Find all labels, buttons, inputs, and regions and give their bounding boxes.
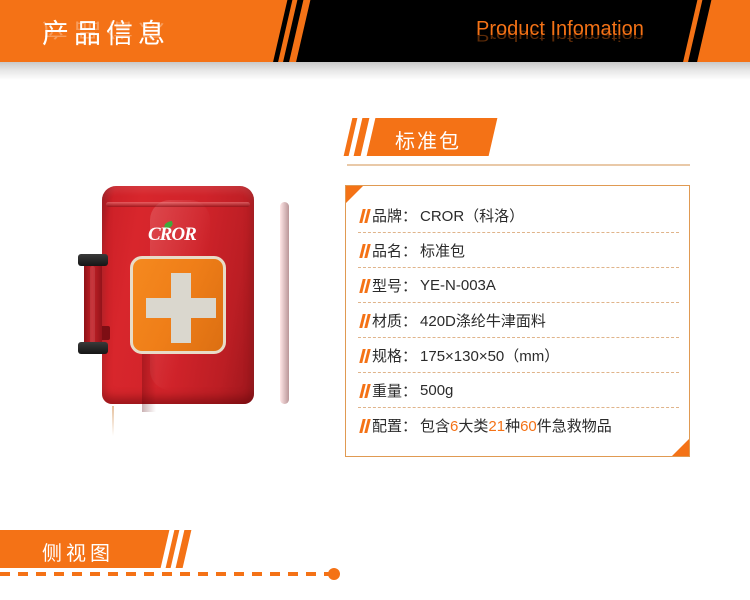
value-text: 大类 bbox=[458, 418, 488, 435]
footer-end-dot bbox=[328, 568, 340, 580]
bag-front-panel bbox=[130, 256, 226, 354]
section-badge: 标准包 bbox=[345, 118, 515, 156]
spec-row-label: 材质： bbox=[372, 310, 417, 331]
product-photo-first-aid-kit: CROR bbox=[62, 178, 298, 420]
spec-row: 品牌：CROR（科洛） bbox=[358, 198, 679, 233]
double-slash-bullet-icon bbox=[361, 314, 373, 328]
spec-row-label: 型号： bbox=[372, 275, 417, 296]
header-title-en-reflection: Product Infomation bbox=[476, 26, 644, 44]
double-slash-bullet-icon bbox=[361, 384, 373, 398]
spec-row-value: 500g bbox=[420, 382, 453, 399]
bag-right-seam bbox=[280, 202, 289, 404]
page-header-banner: 产品信息 产品信息 Product Infomation Product Inf… bbox=[0, 0, 750, 62]
medical-cross-icon-bar bbox=[146, 298, 216, 318]
image-artifact-line bbox=[112, 406, 114, 436]
double-slash-bullet-icon bbox=[361, 209, 373, 223]
double-slash-bullet-icon bbox=[361, 244, 373, 258]
page-footer-banner: 侧视图 bbox=[0, 530, 750, 576]
value-text: 包含 bbox=[420, 418, 450, 435]
spec-row-label: 品牌： bbox=[372, 205, 417, 226]
bag-top-zipper bbox=[106, 202, 250, 207]
specification-box: 品牌：CROR（科洛）品名：标准包型号：YE-N-003A材质：420D涤纶牛津… bbox=[345, 185, 690, 457]
brand-logo-text: CROR bbox=[148, 224, 196, 246]
spec-row-value: 标准包 bbox=[420, 240, 465, 261]
spec-row-label: 品名： bbox=[372, 240, 417, 261]
strap-loop-bottom bbox=[78, 342, 108, 354]
brand-logo: CROR bbox=[148, 222, 210, 246]
header-title-cn-reflection: 产品信息 bbox=[42, 18, 170, 45]
spec-row: 材质：420D涤纶牛津面料 bbox=[358, 303, 679, 338]
footer-label: 侧视图 bbox=[42, 537, 114, 566]
spec-row: 重量：500g bbox=[358, 373, 679, 408]
spec-row-label: 配置： bbox=[372, 415, 417, 436]
strap-highlight bbox=[90, 266, 95, 344]
value-text: 件急救物品 bbox=[537, 418, 612, 435]
highlighted-number: 21 bbox=[488, 418, 505, 435]
highlighted-number: 60 bbox=[520, 418, 537, 435]
header-bottom-gradient bbox=[0, 62, 750, 80]
header-orange-block-right bbox=[695, 0, 750, 62]
double-slash-bullet-icon bbox=[361, 419, 373, 433]
spec-row-value: 420D涤纶牛津面料 bbox=[420, 310, 546, 331]
strap-loop-top bbox=[78, 254, 108, 266]
spec-row: 规格：175×130×50（mm） bbox=[358, 338, 679, 373]
spec-row: 配置：包含6大类21种60件急救物品 bbox=[358, 408, 679, 443]
spec-row-value: 包含6大类21种60件急救物品 bbox=[420, 415, 612, 436]
value-text: 种 bbox=[505, 418, 520, 435]
specification-row-list: 品牌：CROR（科洛）品名：标准包型号：YE-N-003A材质：420D涤纶牛津… bbox=[346, 198, 691, 443]
spec-row-value: 175×130×50（mm） bbox=[420, 345, 559, 366]
section-divider-rule bbox=[347, 164, 690, 166]
spec-row-label: 规格： bbox=[372, 345, 417, 366]
spec-row-value: CROR（科洛） bbox=[420, 205, 524, 226]
bag-carry-strap bbox=[76, 256, 110, 352]
footer-dotted-line bbox=[0, 572, 330, 576]
spec-row-value: YE-N-003A bbox=[420, 277, 496, 294]
spec-row: 型号：YE-N-003A bbox=[358, 268, 679, 303]
badge-label: 标准包 bbox=[395, 125, 461, 154]
spec-row: 品名：标准包 bbox=[358, 233, 679, 268]
double-slash-bullet-icon bbox=[361, 279, 373, 293]
spec-row-label: 重量： bbox=[372, 380, 417, 401]
double-slash-bullet-icon bbox=[361, 349, 373, 363]
strap-band bbox=[84, 256, 102, 352]
product-information-page: 产品信息 产品信息 Product Infomation Product Inf… bbox=[0, 0, 750, 600]
